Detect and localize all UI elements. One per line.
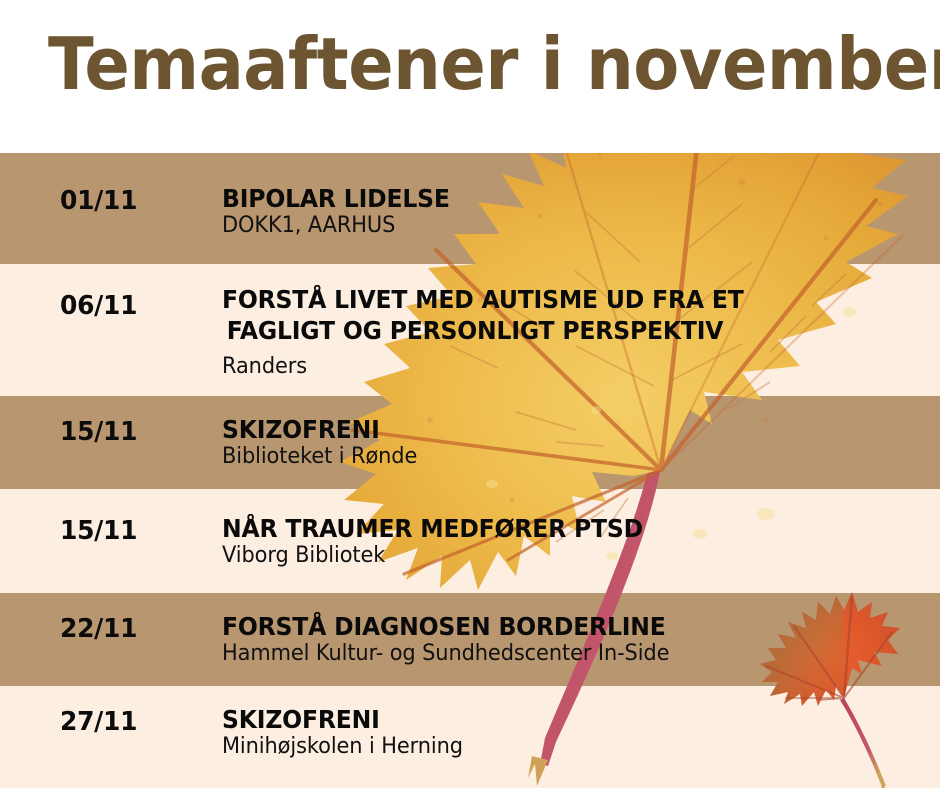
page-title: Temaaftener i november xyxy=(48,21,940,107)
schedule-row-band xyxy=(0,593,940,686)
schedule-row-band xyxy=(0,264,940,396)
schedule-row-band xyxy=(0,489,940,593)
poster-canvas: Temaaftener i november 01/11 BIPOLAR LID… xyxy=(0,0,940,788)
schedule-row-band xyxy=(0,686,940,788)
header-band: Temaaftener i november xyxy=(0,0,940,153)
schedule-row-band xyxy=(0,396,940,489)
schedule-row-band xyxy=(0,153,940,264)
